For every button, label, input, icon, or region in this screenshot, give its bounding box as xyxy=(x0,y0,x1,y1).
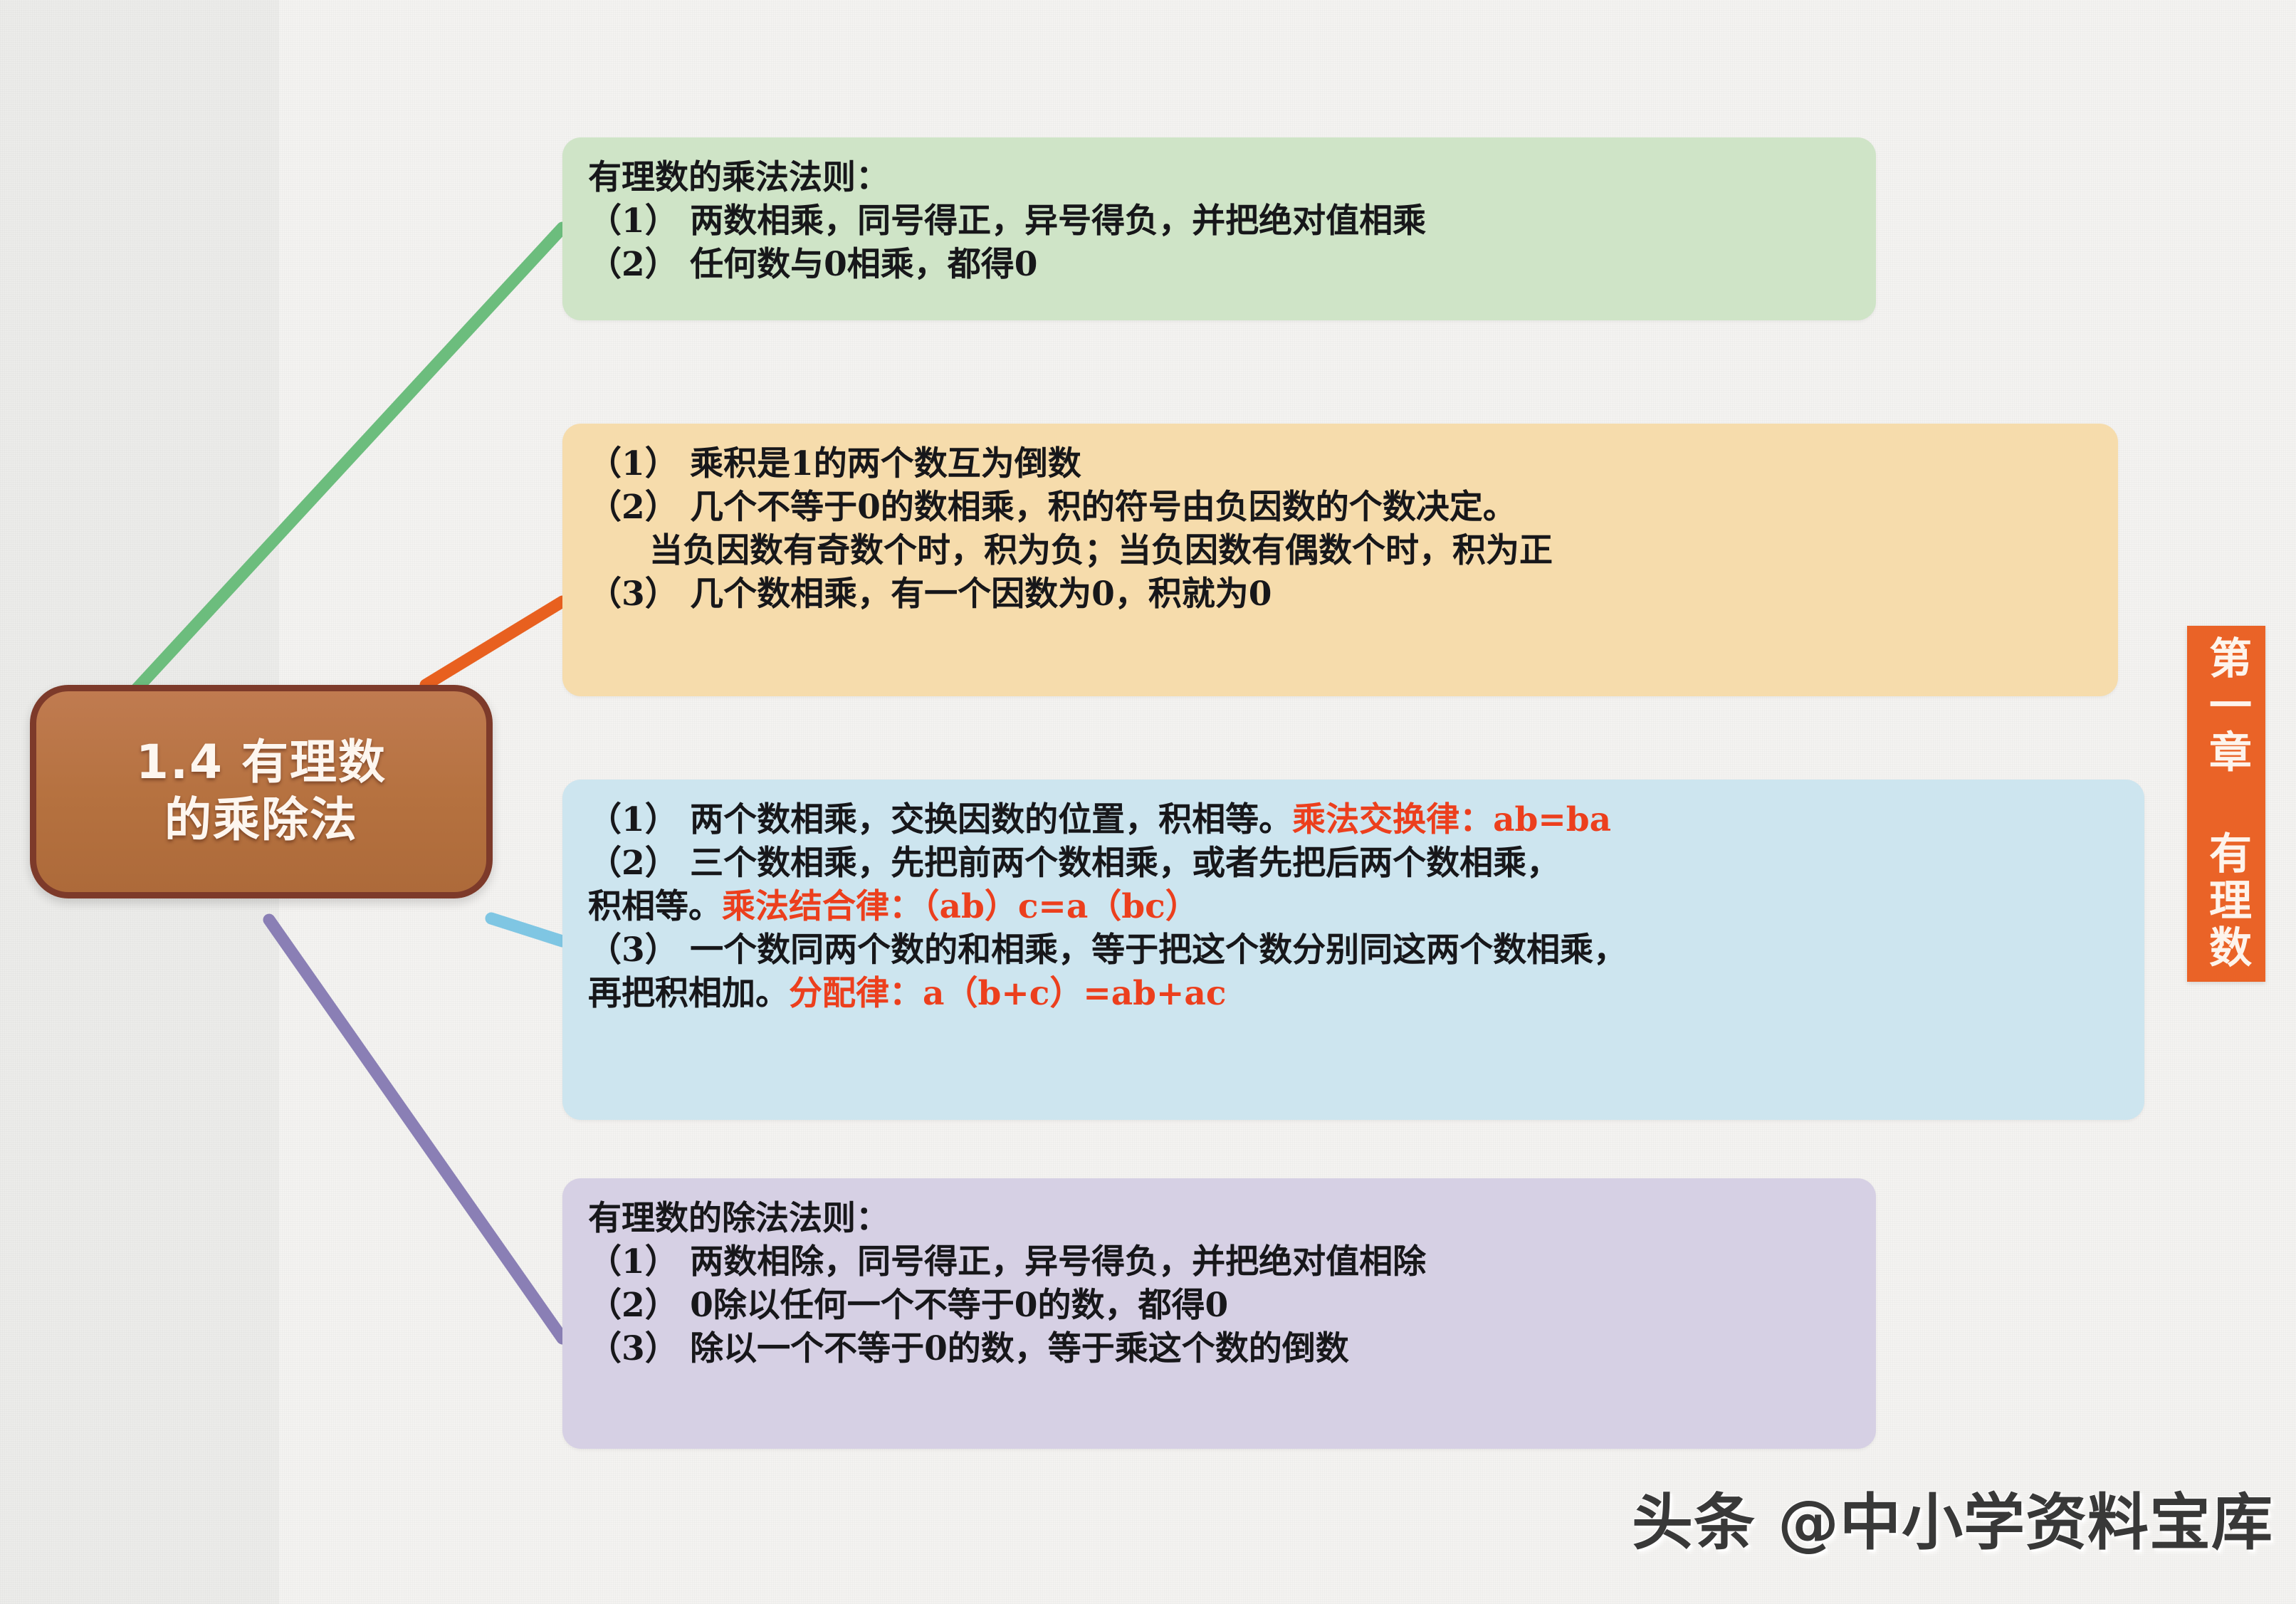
chapter-tab[interactable]: 第一章 有理数 xyxy=(2187,626,2265,982)
topic-text-highlight: 分配律：a（b+c）=ab+ac xyxy=(789,974,1226,1013)
topic-line: （1） 两数相乘，同号得正，异号得负，并把绝对值相乘 xyxy=(588,199,1852,243)
center-node-line-1: 1.4 有理数 xyxy=(136,734,387,792)
center-node-line-2: 的乘除法 xyxy=(164,792,358,849)
chapter-tab-label: 第一章 有理数 xyxy=(2204,636,2249,972)
topic-box-multiplication-laws[interactable]: （1） 两个数相乘，交换因数的位置，积相等。乘法交换律：ab=ba （2） 三个… xyxy=(562,780,2144,1120)
topic-line: （3） 除以一个不等于0的数，等于乘这个数的倒数 xyxy=(588,1327,1852,1370)
topic-line: （3） 一个数同两个数的和相乘，等于把这个数分别同这两个数相乘， xyxy=(588,928,2120,972)
topic-text-black: 积相等。 xyxy=(588,887,722,926)
topic-text-black: 再把积相加。 xyxy=(588,974,789,1013)
topic-line: （2） 任何数与0相乘，都得0 xyxy=(588,243,1852,286)
topic-box-multiplication-rule[interactable]: 有理数的乘法法则： （1） 两数相乘，同号得正，异号得负，并把绝对值相乘 （2）… xyxy=(562,137,1876,320)
topic-line: 当负因数有奇数个时，积为负；当负因数有偶数个时，积为正 xyxy=(588,529,2094,572)
mindmap-page: 1.4 有理数 的乘除法 有理数的乘法法则： （1） 两数相乘，同号得正，异号得… xyxy=(0,0,2296,1604)
topic-box-division-rule[interactable]: 有理数的除法法则： （1） 两数相除，同号得正，异号得负，并把绝对值相除 （2）… xyxy=(562,1178,1876,1449)
topic-text-black: （2） 三个数相乘，先把前两个数相乘，或者先把后两个数相乘， xyxy=(588,844,1560,883)
topic-text-highlight: 乘法结合律：（ab）c=a（bc） xyxy=(722,887,1199,926)
topic-line: （2） 三个数相乘，先把前两个数相乘，或者先把后两个数相乘， xyxy=(588,842,2120,885)
topic-text-black: （3） 一个数同两个数的和相乘，等于把这个数分别同这两个数相乘， xyxy=(588,931,1627,970)
topic-line: （3） 几个数相乘，有一个因数为0，积就为0 xyxy=(588,572,2094,616)
topic-line: 有理数的乘法法则： xyxy=(588,156,1852,199)
topic-line: 积相等。乘法结合律：（ab）c=a（bc） xyxy=(588,885,2120,928)
watermark: 头条 @中小学资料宝库 xyxy=(1632,1472,2273,1561)
topic-text-black: （1） 两个数相乘，交换因数的位置，积相等。 xyxy=(588,800,1292,839)
topic-line: （1） 两数相除，同号得正，异号得负，并把绝对值相除 xyxy=(588,1240,1852,1284)
topic-line: 有理数的除法法则： xyxy=(588,1197,1852,1240)
topic-line: （1） 两个数相乘，交换因数的位置，积相等。乘法交换律：ab=ba xyxy=(588,798,2120,842)
center-node[interactable]: 1.4 有理数 的乘除法 xyxy=(30,685,493,898)
topic-line: （2） 0除以任何一个不等于0的数，都得0 xyxy=(588,1284,1852,1327)
topic-line: 再把积相加。分配律：a（b+c）=ab+ac xyxy=(588,972,2120,1015)
topic-box-reciprocal-and-sign[interactable]: （1） 乘积是1的两个数互为倒数 （2） 几个不等于0的数相乘，积的符号由负因数… xyxy=(562,424,2118,696)
topic-text-highlight: 乘法交换律：ab=ba xyxy=(1292,800,1611,839)
topic-line: （1） 乘积是1的两个数互为倒数 xyxy=(588,442,2094,486)
topic-line: （2） 几个不等于0的数相乘，积的符号由负因数的个数决定。 xyxy=(588,486,2094,529)
